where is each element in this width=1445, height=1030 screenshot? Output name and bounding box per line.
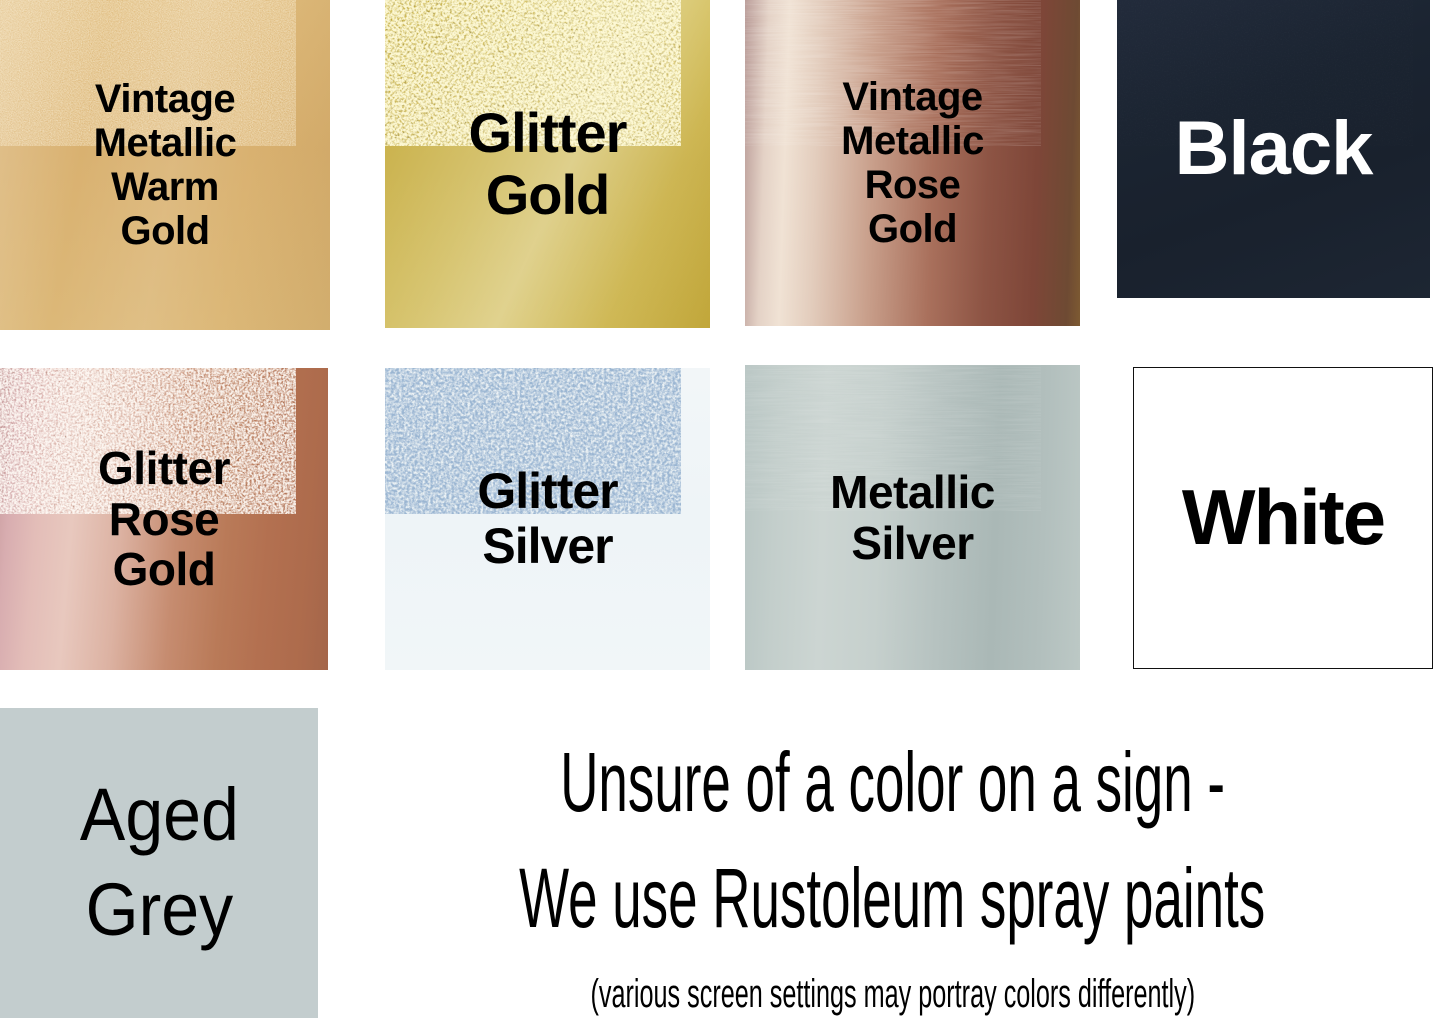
swatch-label-vintage-metallic-warm-gold: Vintage Metallic Warm Gold bbox=[94, 77, 237, 253]
footnote-line-1: Unsure of a color on a sign - bbox=[560, 740, 1225, 824]
swatch-label-glitter-rose-gold: Glitter Rose Gold bbox=[98, 443, 230, 595]
footnote-block: Unsure of a color on a sign - We use Rus… bbox=[340, 718, 1445, 1030]
swatch-label-glitter-silver: Glitter Silver bbox=[477, 464, 617, 574]
color-swatch-aged-grey[interactable]: Aged Grey bbox=[0, 708, 318, 1018]
swatch-label-aged-grey: Aged Grey bbox=[79, 768, 238, 957]
color-swatch-glitter-gold[interactable]: Glitter Gold bbox=[385, 0, 710, 328]
swatch-label-glitter-gold: Glitter Gold bbox=[469, 102, 627, 225]
swatch-label-vintage-metallic-rose-gold: Vintage Metallic Rose Gold bbox=[841, 75, 984, 251]
color-swatch-metallic-silver[interactable]: Metallic Silver bbox=[745, 365, 1080, 670]
color-swatch-glitter-silver[interactable]: Glitter Silver bbox=[385, 368, 710, 670]
swatch-label-white: White bbox=[1182, 475, 1384, 561]
color-swatch-vintage-metallic-warm-gold[interactable]: Vintage Metallic Warm Gold bbox=[0, 0, 330, 330]
footnote-line-2: We use Rustoleum spray paints bbox=[519, 856, 1265, 940]
swatch-label-metallic-silver: Metallic Silver bbox=[830, 467, 995, 568]
swatch-label-black: Black bbox=[1175, 107, 1373, 191]
color-swatch-white[interactable]: White bbox=[1133, 367, 1433, 669]
color-swatch-black[interactable]: Black bbox=[1117, 0, 1430, 298]
color-swatch-glitter-rose-gold[interactable]: Glitter Rose Gold bbox=[0, 368, 328, 670]
color-swatch-vintage-metallic-rose-gold[interactable]: Vintage Metallic Rose Gold bbox=[745, 0, 1080, 326]
footnote-fine-print: (various screen settings may portray col… bbox=[590, 974, 1195, 1014]
